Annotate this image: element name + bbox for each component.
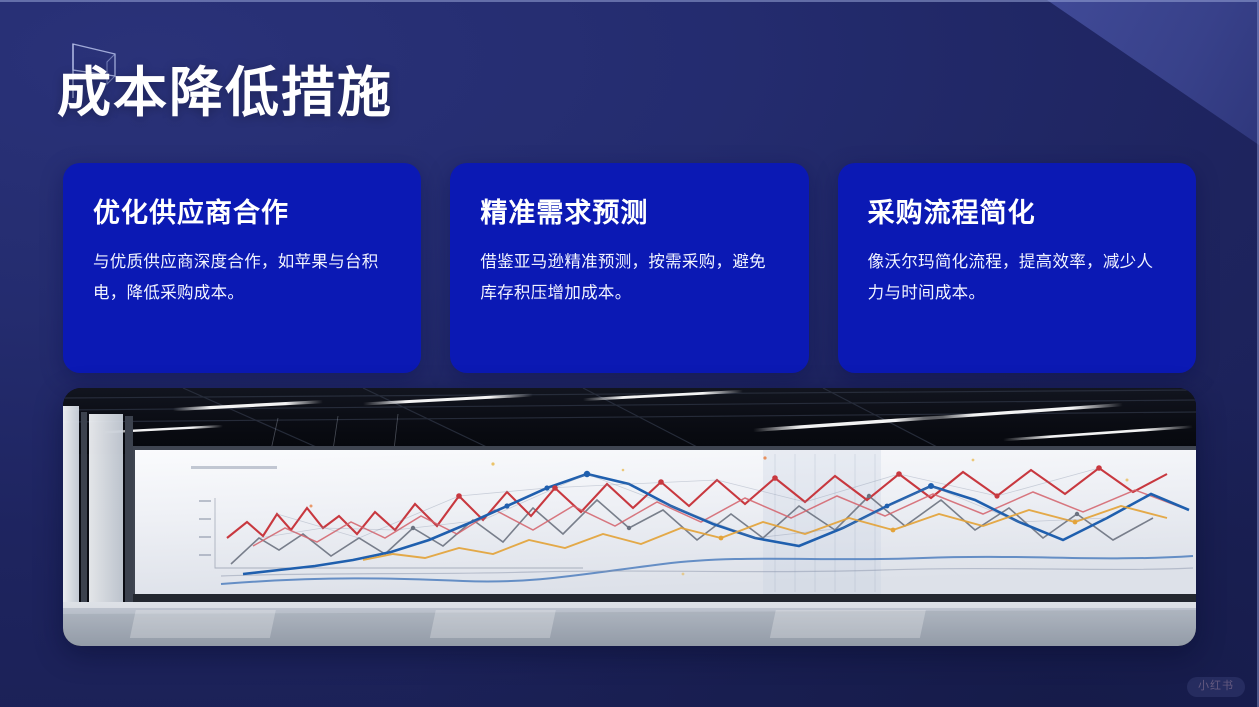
feature-card-supplier[interactable]: 优化供应商合作 与优质供应商深度合作，如苹果与台积电，降低采购成本。 xyxy=(63,163,421,373)
card-body: 像沃尔玛简化流程，提高效率，减少人力与时间成本。 xyxy=(868,247,1166,308)
card-body: 借鉴亚马逊精准预测，按需采购，避免库存积压增加成本。 xyxy=(480,247,778,308)
card-title: 精准需求预测 xyxy=(480,197,778,229)
office-data-screen-illustration xyxy=(63,388,1196,646)
corner-wedge-decoration xyxy=(1047,0,1259,145)
title-block: 成本降低措施 xyxy=(57,36,697,144)
feature-card-forecast[interactable]: 精准需求预测 借鉴亚马逊精准预测，按需采购，避免库存积压增加成本。 xyxy=(450,163,808,373)
card-body: 与优质供应商深度合作，如苹果与台积电，降低采购成本。 xyxy=(93,247,391,308)
card-title: 优化供应商合作 xyxy=(93,197,391,229)
feature-card-row: 优化供应商合作 与优质供应商深度合作，如苹果与台积电，降低采购成本。 精准需求预… xyxy=(63,163,1196,373)
feature-card-process[interactable]: 采购流程简化 像沃尔玛简化流程，提高效率，减少人力与时间成本。 xyxy=(838,163,1196,373)
slide-canvas: 成本降低措施 优化供应商合作 与优质供应商深度合作，如苹果与台积电，降低采购成本… xyxy=(0,0,1259,707)
watermark-badge: 小红书 xyxy=(1187,677,1245,697)
card-title: 采购流程简化 xyxy=(868,197,1166,229)
page-title: 成本降低措施 xyxy=(57,62,393,124)
hero-photo-panel xyxy=(63,388,1196,646)
